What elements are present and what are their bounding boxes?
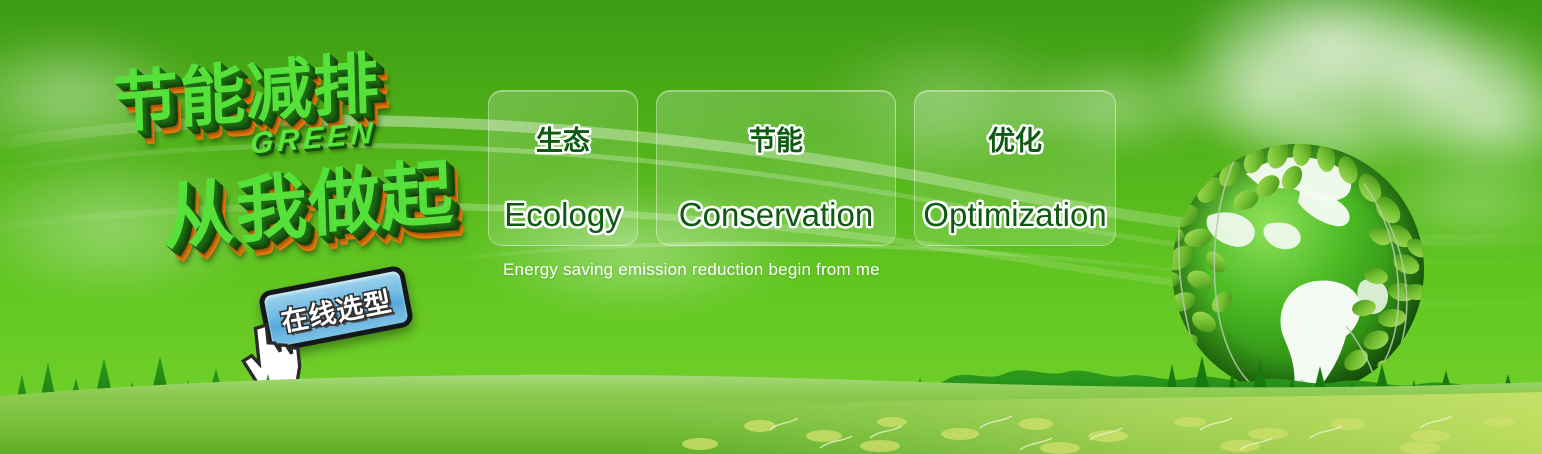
feature-card-ecology-en: Ecology (504, 196, 621, 234)
green-promo-banner: 节能减排 GREEN 从我做起 在线选型 生态 Ecology 节能 Conse… (0, 0, 1542, 454)
headline-line-2: 从我做起 (161, 133, 456, 264)
tagline: Energy saving emission reduction begin f… (503, 260, 880, 280)
feature-card-conservation-en: Conservation (679, 196, 873, 234)
leafy-green-globe-icon (1150, 130, 1450, 430)
pointing-hand-cursor-icon (232, 314, 312, 401)
feature-card-optimization-cn: 优化 (988, 119, 1042, 158)
feature-card-ecology-cn: 生态 (536, 119, 590, 158)
feature-card-optimization[interactable]: 优化 Optimization (914, 90, 1116, 246)
cloud-icon (1150, 30, 1380, 140)
headline-artwork: 节能减排 GREEN 从我做起 (100, 34, 480, 264)
feature-card-conservation-cn: 节能 (749, 119, 803, 158)
feature-card-list: 生态 Ecology 节能 Conservation 优化 Optimizati… (488, 90, 1116, 246)
cloud-icon (1300, 10, 1542, 130)
feature-card-conservation[interactable]: 节能 Conservation (656, 90, 896, 246)
cloud-icon (1180, 0, 1480, 96)
feature-card-optimization-en: Optimization (923, 196, 1106, 234)
feature-card-ecology[interactable]: 生态 Ecology (488, 90, 638, 246)
